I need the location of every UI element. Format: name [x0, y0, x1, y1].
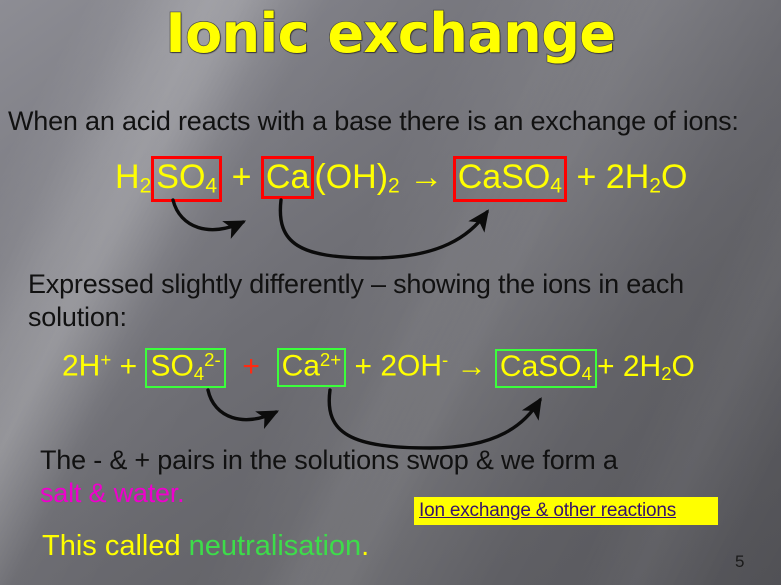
eq2-calcium-boxed: Ca2+: [277, 348, 347, 387]
eq2-oh-symbol: 2OH: [380, 350, 442, 383]
equation-molecular: H2SO4 + Ca(OH)2 → CaSO4 + 2H2O: [115, 156, 687, 202]
eq2-h-charge: +: [100, 349, 111, 370]
eq1-h-subscript: 2: [140, 175, 152, 198]
eq2-plus-2: +: [346, 352, 380, 382]
eq2-plus-red-glyph: +: [242, 350, 260, 383]
eq1-water: 2H2O: [606, 160, 688, 197]
eq2-water-oxygen: O: [672, 350, 695, 383]
arrow-so4-to-ca: [173, 200, 243, 230]
eq2-so4-symbol: SO: [150, 350, 193, 383]
ion-exchange-hyperlink[interactable]: Ion exchange & other reactions: [414, 497, 718, 525]
arrow-sulfate-to-calcium: [208, 390, 276, 420]
equation-ionic: 2H+ + SO42- + Ca2+ + 2OH- → CaSO4+ 2H2O: [62, 348, 695, 388]
eq2-caso4-boxed: CaSO4: [495, 349, 597, 389]
eq1-water-oxygen: O: [661, 158, 687, 196]
eq1-caso4-subscript: 4: [550, 175, 562, 198]
eq1-water-subscript: 2: [649, 175, 661, 198]
intro-paragraph: When an acid reacts with a base there is…: [8, 105, 778, 138]
expressed-paragraph: Expressed slightly differently – showing…: [28, 268, 748, 334]
eq2-sulfate-boxed: SO42-: [145, 348, 225, 388]
eq1-so4-symbol: SO: [156, 158, 205, 196]
eq1-plus-2: +: [567, 160, 606, 194]
eq1-hydroxide: (OH)2: [314, 160, 399, 197]
eq1-oh-group: (OH): [314, 158, 388, 196]
eq2-plus-1: +: [111, 352, 145, 382]
eq1-plus-1: +: [222, 160, 261, 194]
eq2-ca-symbol: Ca: [282, 350, 320, 383]
eq2-caso4-subscript: 4: [582, 363, 592, 384]
eq2-plus-3-glyph: +: [597, 350, 615, 383]
eq1-plus-2-glyph: +: [576, 158, 596, 196]
eq2-hydrogen-ion: 2H+: [62, 351, 111, 382]
neutralisation-statement: This called neutralisation.: [42, 530, 369, 563]
eq1-h2: H2: [115, 160, 151, 197]
final-line-prefix: This called: [42, 530, 189, 562]
eq1-ca-boxed: Ca: [261, 156, 314, 199]
eq1-h-symbol: H: [115, 158, 140, 196]
arrow-calcium-to-caso4: [329, 390, 540, 448]
eq1-plus-1-glyph: +: [232, 158, 252, 196]
slide-canvas: Ionic exchange When an acid reacts with …: [0, 0, 781, 585]
eq2-so4-charge: 2-: [204, 349, 221, 370]
eq1-so4-boxed: SO4: [151, 156, 222, 202]
eq2-ca-charge: 2+: [320, 349, 341, 370]
neutralisation-keyword: neutralisation: [189, 530, 362, 562]
slide-number: 5: [735, 552, 744, 572]
eq1-arrow-glyph: →: [409, 158, 443, 196]
eq2-so4-subscript: 4: [194, 363, 204, 384]
eq1-caso4-symbol: CaSO: [458, 158, 551, 196]
eq2-reaction-arrow: →: [448, 352, 495, 382]
final-line-suffix: .: [361, 530, 369, 562]
hyperlink-label[interactable]: Ion exchange & other reactions: [419, 500, 676, 522]
eq1-so4-subscript: 4: [205, 175, 217, 198]
eq2-hydroxide-ion: 2OH-: [380, 351, 448, 382]
eq2-h-symbol: 2H: [62, 350, 100, 383]
eq2-plus-3: +: [597, 352, 623, 382]
eq2-caso4-symbol: CaSO: [500, 350, 582, 383]
page-title: Ionic exchange: [0, 6, 781, 63]
eq1-reaction-arrow: →: [400, 160, 453, 194]
eq2-plus-2-glyph: +: [354, 350, 372, 383]
eq2-water-subscript: 2: [661, 363, 671, 384]
eq1-caso4-boxed: CaSO4: [453, 156, 567, 202]
eq2-water-coeff: 2H: [623, 350, 661, 383]
eq1-ca-symbol: Ca: [266, 158, 309, 196]
eq1-oh-subscript: 2: [388, 175, 400, 198]
eq2-plus-1-glyph: +: [120, 350, 138, 383]
arrow-ca-to-caso4: [280, 200, 487, 258]
pairs-line-1: The - & + pairs in the solutions swop & …: [40, 445, 618, 475]
eq1-water-coeff: 2H: [606, 158, 649, 196]
eq2-arrow-glyph: →: [457, 350, 487, 383]
eq2-water: 2H2O: [623, 352, 695, 384]
eq2-plus-red: +: [226, 352, 277, 382]
